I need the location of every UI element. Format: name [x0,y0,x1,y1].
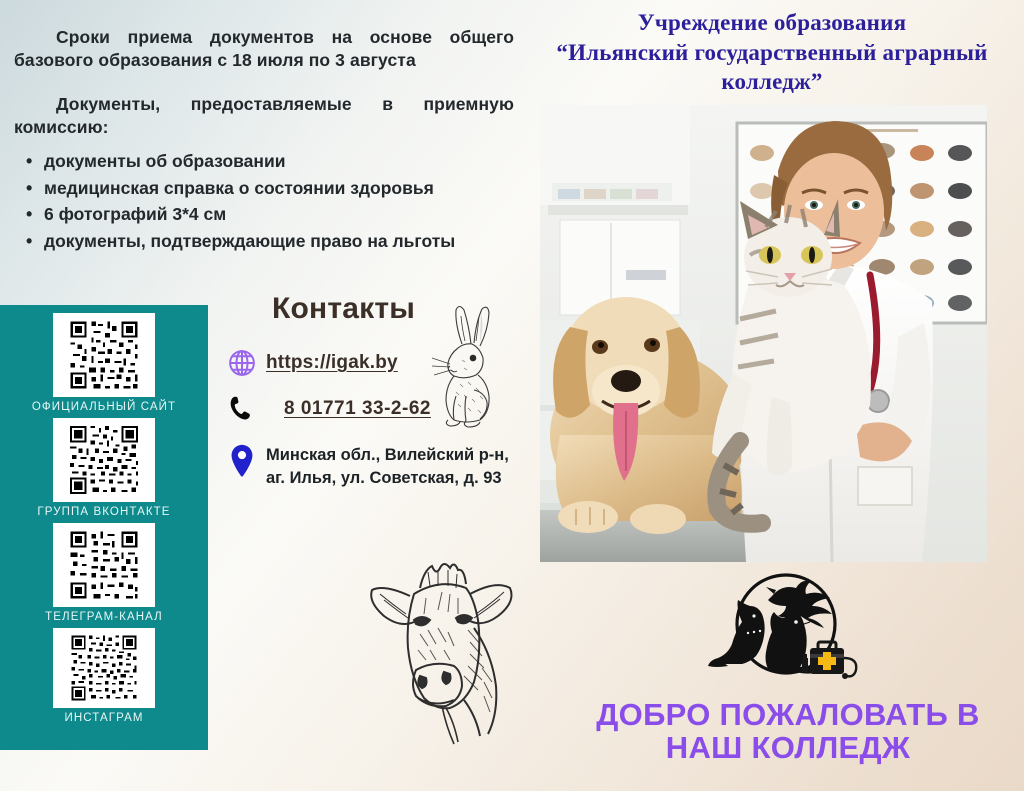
qr-label-telegram: ТЕЛЕГРАМ-КАНАЛ [45,611,163,623]
qr-codes-panel: ОФИЦИАЛЬНЫЙ САЙТ [0,305,208,750]
qr-label-instagram: ИНСТАГРАМ [64,712,143,724]
rabbit-sketch-icon [432,300,510,428]
address-text: Минская обл., Вилейский р-н, аг. Илья, у… [266,444,509,491]
qr-code-icon[interactable] [53,523,155,607]
map-pin-icon [224,444,260,478]
brochure-page: Сроки приема документов на основе общего… [0,0,1024,791]
qr-item-telegram[interactable]: ТЕЛЕГРАМ-КАНАЛ [45,523,163,626]
documents-heading: Документы, предоставляемые в приемную ко… [14,93,514,140]
organization-title: Учреждение образования “Ильянский госуда… [524,8,1020,97]
org-title-line-3: колледж” [524,67,1020,97]
qr-label-website: ОФИЦИАЛЬНЫЙ САЙТ [32,401,176,413]
qr-code-icon[interactable] [53,313,155,397]
website-link[interactable]: https://igak.by [266,352,398,374]
list-item: 6 фотографий 3*4 см [14,202,514,228]
phone-icon [224,394,260,424]
qr-code-icon[interactable] [53,628,155,708]
vet-clinic-logo-icon [706,566,866,690]
contact-address-row: Минская обл., Вилейский р-н, аг. Илья, у… [224,444,524,491]
list-item: медицинская справка о состоянии здоровья [14,176,514,202]
list-item: документы, подтверждающие право на льгот… [14,229,514,255]
deadline-paragraph: Сроки приема документов на основе общего… [14,26,514,73]
globe-icon [224,348,260,378]
qr-item-instagram[interactable]: ИНСТАГРАМ [53,628,155,727]
address-line-2: аг. Илья, ул. Советская, д. 93 [266,469,502,487]
qr-item-website[interactable]: ОФИЦИАЛЬНЫЙ САЙТ [32,313,176,416]
admissions-info-block: Сроки приема документов на основе общего… [14,26,514,255]
address-line-1: Минская обл., Вилейский р-н, [266,446,509,464]
cow-head-sketch-icon [358,558,530,750]
welcome-message: ДОБРО ПОЖАЛОВАТЬ В НАШ КОЛЛЕДЖ [560,698,1016,765]
list-item: документы об образовании [14,149,514,175]
phone-number[interactable]: 8 01771 33-2-62 [284,398,431,420]
welcome-line-2: НАШ КОЛЛЕДЖ [560,731,1016,764]
org-title-line-1: Учреждение образования [524,8,1020,38]
org-title-line-2: “Ильянский государственный аграрный [524,38,1020,68]
qr-item-vkontakte[interactable]: ГРУППА ВКОНТАКТЕ [37,418,170,521]
required-documents-list: документы об образовании медицинская спр… [14,149,514,254]
veterinarian-photo [540,105,987,562]
qr-code-icon[interactable] [53,418,155,502]
welcome-line-1: ДОБРО ПОЖАЛОВАТЬ В [560,698,1016,731]
qr-label-vkontakte: ГРУППА ВКОНТАКТЕ [37,506,170,518]
